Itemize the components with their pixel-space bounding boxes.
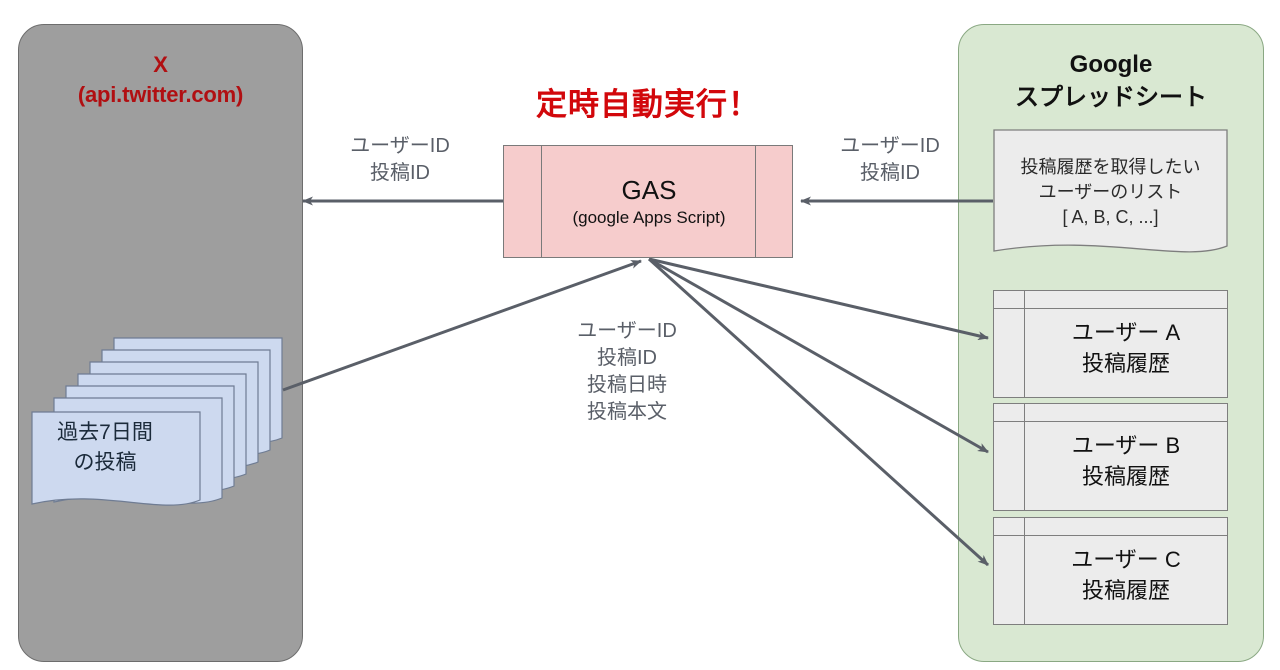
user-history-sheet-a-line1: ユーザー A [1025,317,1227,348]
flow-label-from-list-line1: ユーザーID [800,133,980,160]
user-history-sheet-b-line2: 投稿履歴 [1025,461,1227,492]
flow-label-to-x: ユーザーID 投稿ID [310,133,490,187]
flow-label-to-sheets-line4: 投稿本文 [537,399,717,426]
user-history-sheet-b-line1: ユーザー B [1025,430,1227,461]
post-stack-label: 過去7日間 の投稿 [30,418,180,478]
banner-auto-execution: 定時自動実行！ [453,86,843,124]
flow-label-from-list: ユーザーID 投稿ID [800,133,980,187]
flow-label-to-sheets: ユーザーID 投稿ID 投稿日時 投稿本文 [537,318,717,426]
user-history-sheet-a[interactable]: ユーザー A 投稿履歴 [993,290,1228,398]
post-stack-label-line2: の投稿 [30,448,180,478]
post-stack-label-line1: 過去7日間 [30,418,180,448]
user-history-sheet-b-text: ユーザー B 投稿履歴 [1025,430,1227,492]
user-history-sheet-a-text: ユーザー A 投稿履歴 [1025,317,1227,379]
user-list-line3: [ A, B, C, ...] [993,205,1228,230]
user-list-line1: 投稿履歴を取得したい [993,155,1228,180]
user-history-sheet-c[interactable]: ユーザー C 投稿履歴 [993,517,1228,625]
flow-label-to-x-line1: ユーザーID [310,133,490,160]
flow-label-to-x-line2: 投稿ID [310,160,490,187]
gas-process-box[interactable]: GAS (google Apps Script) [503,145,793,258]
user-list-document[interactable]: 投稿履歴を取得したい ユーザーのリスト [ A, B, C, ...] [993,129,1228,262]
flow-label-from-list-line2: 投稿ID [800,160,980,187]
sheet-header-rule [994,535,1227,536]
gas-label: GAS (google Apps Script) [504,174,794,230]
gas-name: GAS [504,174,794,206]
flow-label-to-sheets-line1: ユーザーID [537,318,717,345]
flow-label-to-sheets-line2: 投稿ID [537,345,717,372]
user-list-document-text: 投稿履歴を取得したい ユーザーのリスト [ A, B, C, ...] [993,155,1228,230]
user-history-sheet-a-line2: 投稿履歴 [1025,348,1227,379]
diagram-canvas: X (api.twitter.com) Google スプレッドシート [0,0,1280,670]
user-history-sheet-c-line1: ユーザー C [1025,544,1227,575]
user-history-sheet-c-line2: 投稿履歴 [1025,575,1227,606]
sheet-header-rule [994,308,1227,309]
flow-label-to-sheets-line3: 投稿日時 [537,372,717,399]
user-history-sheet-b[interactable]: ユーザー B 投稿履歴 [993,403,1228,511]
user-list-line2: ユーザーのリスト [993,180,1228,205]
sheet-header-rule [994,421,1227,422]
user-history-sheet-c-text: ユーザー C 投稿履歴 [1025,544,1227,606]
gas-subtitle: (google Apps Script) [504,206,794,230]
